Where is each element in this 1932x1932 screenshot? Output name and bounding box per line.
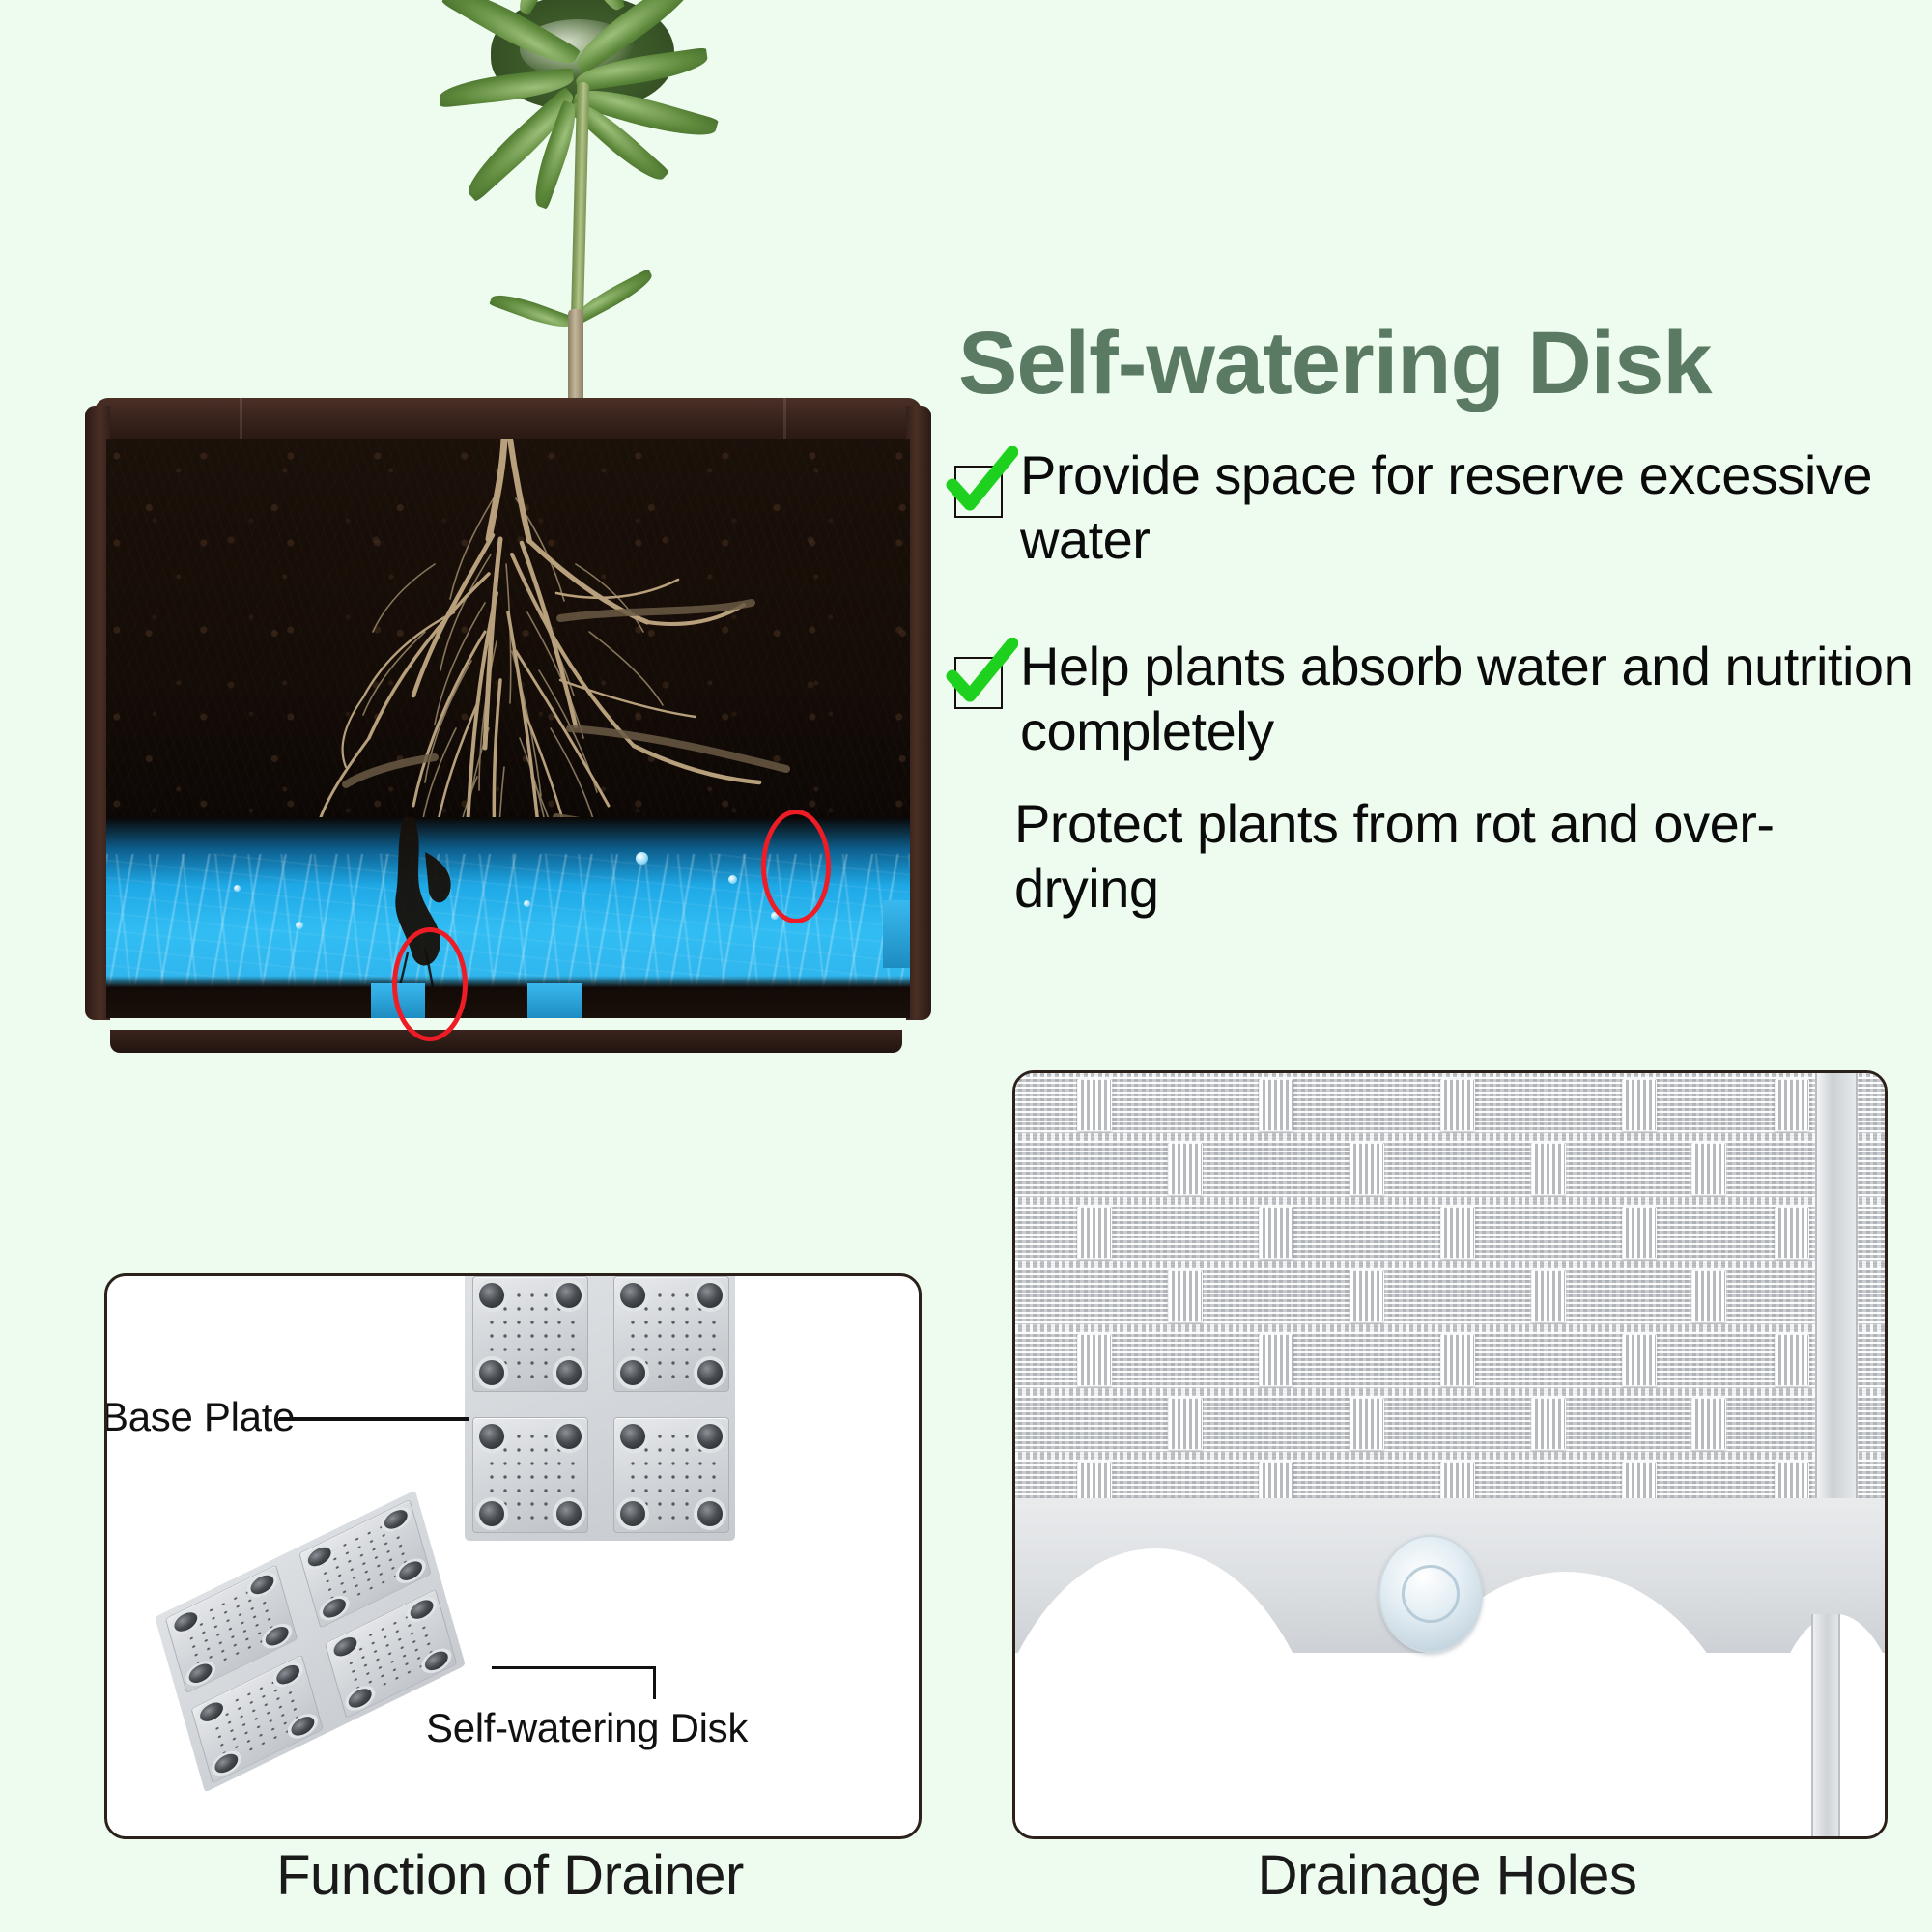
weave-knot xyxy=(1259,1207,1293,1259)
weave-knot xyxy=(1691,1143,1726,1195)
weave-knot xyxy=(1531,1270,1566,1322)
planter-body xyxy=(85,398,931,1036)
weave-knot xyxy=(1259,1079,1293,1131)
planter-cross-section-photo xyxy=(85,0,935,1222)
plate-quadrant xyxy=(472,1417,588,1533)
self-watering-disk-image xyxy=(155,1490,466,1792)
weave-row xyxy=(1015,1396,1885,1452)
weave-knot xyxy=(1168,1398,1203,1450)
self-watering-disk-leader-line-drop xyxy=(653,1666,656,1699)
weave-knot xyxy=(1775,1334,1809,1386)
disk-knob xyxy=(697,1360,723,1385)
plant-illustration xyxy=(375,0,781,406)
base-plate-label: Base Plate xyxy=(104,1394,295,1440)
disk-knob xyxy=(556,1501,582,1526)
weave-knot xyxy=(1168,1270,1203,1322)
disk-knob xyxy=(479,1283,504,1308)
weave-knot xyxy=(1077,1207,1112,1259)
disk-knob xyxy=(556,1283,582,1308)
drainage-holes-panel xyxy=(1012,1070,1888,1839)
drainage-holes-caption: Drainage Holes xyxy=(1012,1843,1882,1908)
weave-knot xyxy=(1350,1398,1384,1450)
check-mark xyxy=(945,446,1018,520)
weave-knot xyxy=(1691,1398,1726,1450)
green-check-box-icon xyxy=(947,454,1007,514)
disk-knob xyxy=(620,1501,645,1526)
weave-knot xyxy=(1077,1079,1112,1131)
disk-knob xyxy=(479,1360,504,1385)
drain-gap-bottom-annotation xyxy=(392,927,468,1041)
weave-knot xyxy=(1077,1334,1112,1386)
planter-foot xyxy=(110,1030,902,1053)
weave-knot xyxy=(1440,1334,1475,1386)
leaf xyxy=(489,288,575,333)
feature-copy-column: Self-watering Disk Provide space for res… xyxy=(929,319,1915,921)
feature-item-label: Provide space for reserve excessive wate… xyxy=(1020,442,1915,572)
drainage-hole-plug-icon xyxy=(1378,1535,1483,1653)
disk-knob xyxy=(556,1360,582,1385)
weave-knot xyxy=(1531,1398,1566,1450)
weave-knot xyxy=(1775,1079,1809,1131)
self-watering-disk-leader-line xyxy=(492,1666,656,1669)
base-plate-leader-line xyxy=(279,1417,469,1421)
feature-item-label: Help plants absorb water and nutrition c… xyxy=(1020,634,1915,763)
plate-quadrant xyxy=(472,1276,588,1392)
planter-interior xyxy=(106,439,910,1018)
weave-knot xyxy=(1622,1334,1657,1386)
disk-knob xyxy=(620,1360,645,1385)
self-watering-disk-edge xyxy=(106,976,910,1018)
weave-row xyxy=(1015,1141,1885,1197)
check-mark xyxy=(945,638,1018,711)
disk-knob xyxy=(620,1424,645,1449)
page-title: Self-watering Disk xyxy=(958,319,1915,410)
disk-knob xyxy=(697,1501,723,1526)
feature-note: Protect plants from rot and over-drying xyxy=(1014,791,1915,921)
infographic-canvas: Self-watering Disk Provide space for res… xyxy=(0,0,1932,1932)
disk-knob xyxy=(620,1283,645,1308)
disk-knob xyxy=(479,1424,504,1449)
weave-knot xyxy=(1691,1270,1726,1322)
feature-item: Provide space for reserve excessive wate… xyxy=(947,442,1915,572)
drain-gap-side-annotation xyxy=(761,810,831,923)
drain-gap xyxy=(883,900,910,968)
disk-knob xyxy=(697,1283,723,1308)
rattan-weave-texture xyxy=(1015,1073,1885,1513)
plate-quadrant xyxy=(613,1417,729,1533)
planter-leg xyxy=(1811,1614,1840,1836)
weave-knot xyxy=(1440,1079,1475,1131)
weave-knot xyxy=(1622,1207,1657,1259)
planter-rim xyxy=(95,398,922,440)
green-check-box-icon xyxy=(947,645,1007,705)
function-of-drainer-caption: Function of Drainer xyxy=(104,1843,916,1908)
disk-knob xyxy=(697,1424,723,1449)
weave-knot xyxy=(1775,1207,1809,1259)
self-watering-disk-label: Self-watering Disk xyxy=(426,1705,748,1751)
weave-knot xyxy=(1531,1143,1566,1195)
weave-knot xyxy=(1440,1207,1475,1259)
planter-corner-edge xyxy=(1815,1073,1858,1513)
disk-knob xyxy=(479,1501,504,1526)
feature-item: Help plants absorb water and nutrition c… xyxy=(947,634,1915,763)
base-plate-image xyxy=(465,1273,735,1541)
plate-quadrant xyxy=(613,1276,729,1392)
weave-knot xyxy=(1259,1334,1293,1386)
disk-knob xyxy=(556,1424,582,1449)
weave-knot xyxy=(1350,1143,1384,1195)
weave-knot xyxy=(1350,1270,1384,1322)
weave-knot xyxy=(1622,1079,1657,1131)
drainage-hole-plug-ring xyxy=(1402,1565,1460,1623)
drain-gap xyxy=(527,983,582,1018)
weave-knot xyxy=(1168,1143,1203,1195)
weave-row xyxy=(1015,1268,1885,1324)
function-of-drainer-panel: Base Plate Self-watering Disk xyxy=(104,1273,922,1839)
